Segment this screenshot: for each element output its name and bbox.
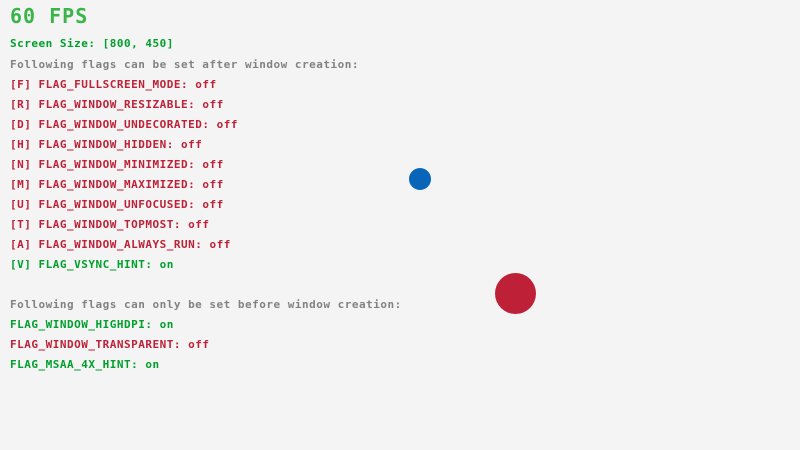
flag-name: FLAG_WINDOW_HIGHDPI: — [10, 318, 160, 331]
flag-name: FLAG_WINDOW_HIDDEN: — [39, 138, 181, 151]
flag-state: on — [160, 318, 174, 331]
flag-state: off — [202, 158, 223, 171]
flag-state: on — [145, 358, 159, 371]
flag-key: [F] — [10, 78, 39, 91]
flag-row[interactable]: FLAG_WINDOW_TRANSPARENT: off — [10, 339, 209, 351]
flag-state: off — [202, 198, 223, 211]
flag-key: [R] — [10, 98, 39, 111]
flag-key: [V] — [10, 258, 39, 271]
flag-state: off — [202, 98, 223, 111]
flag-state: off — [202, 178, 223, 191]
flag-name: FLAG_WINDOW_ALWAYS_RUN: — [39, 238, 210, 251]
flag-state: off — [188, 338, 209, 351]
startup-flags-note: Following flags can only be set before w… — [10, 299, 402, 311]
flag-name: FLAG_WINDOW_UNFOCUSED: — [39, 198, 203, 211]
flag-row[interactable]: [T] FLAG_WINDOW_TOPMOST: off — [10, 219, 209, 231]
flag-row[interactable]: [V] FLAG_VSYNC_HINT: on — [10, 259, 174, 271]
flag-row[interactable]: FLAG_MSAA_4X_HINT: on — [10, 359, 160, 371]
runtime-flags-note: Following flags can be set after window … — [10, 59, 359, 71]
flag-key: [M] — [10, 178, 39, 191]
blue-ball — [409, 168, 431, 190]
flag-name: FLAG_WINDOW_MAXIMIZED: — [39, 178, 203, 191]
flag-name: FLAG_MSAA_4X_HINT: — [10, 358, 145, 371]
flag-name: FLAG_VSYNC_HINT: — [39, 258, 160, 271]
flag-key: [U] — [10, 198, 39, 211]
flag-name: FLAG_WINDOW_TRANSPARENT: — [10, 338, 188, 351]
flag-state: off — [188, 218, 209, 231]
flag-state: off — [181, 138, 202, 151]
flag-name: FLAG_WINDOW_UNDECORATED: — [39, 118, 217, 131]
flag-key: [D] — [10, 118, 39, 131]
flag-state: off — [209, 238, 230, 251]
flag-key: [A] — [10, 238, 39, 251]
flag-row[interactable]: [M] FLAG_WINDOW_MAXIMIZED: off — [10, 179, 224, 191]
flag-name: FLAG_FULLSCREEN_MODE: — [39, 78, 196, 91]
flag-name: FLAG_WINDOW_TOPMOST: — [39, 218, 189, 231]
flag-row[interactable]: [H] FLAG_WINDOW_HIDDEN: off — [10, 139, 202, 151]
flag-state: on — [160, 258, 174, 271]
flag-row[interactable]: [R] FLAG_WINDOW_RESIZABLE: off — [10, 99, 224, 111]
flag-row[interactable]: [U] FLAG_WINDOW_UNFOCUSED: off — [10, 199, 224, 211]
fps-counter: 60 FPS — [10, 6, 88, 26]
flag-row[interactable]: [F] FLAG_FULLSCREEN_MODE: off — [10, 79, 217, 91]
flag-key: [T] — [10, 218, 39, 231]
flag-name: FLAG_WINDOW_RESIZABLE: — [39, 98, 203, 111]
flag-row[interactable]: [N] FLAG_WINDOW_MINIMIZED: off — [10, 159, 224, 171]
flag-row[interactable]: [D] FLAG_WINDOW_UNDECORATED: off — [10, 119, 238, 131]
flag-row[interactable]: [A] FLAG_WINDOW_ALWAYS_RUN: off — [10, 239, 231, 251]
flag-row[interactable]: FLAG_WINDOW_HIGHDPI: on — [10, 319, 174, 331]
red-ball — [495, 273, 536, 314]
raylib-window: 60 FPS Screen Size: [800, 450] Following… — [0, 0, 800, 450]
flag-key: [N] — [10, 158, 39, 171]
screen-size-label: Screen Size: [800, 450] — [10, 38, 174, 50]
flag-state: off — [195, 78, 216, 91]
flag-name: FLAG_WINDOW_MINIMIZED: — [39, 158, 203, 171]
flag-key: [H] — [10, 138, 39, 151]
flag-state: off — [217, 118, 238, 131]
